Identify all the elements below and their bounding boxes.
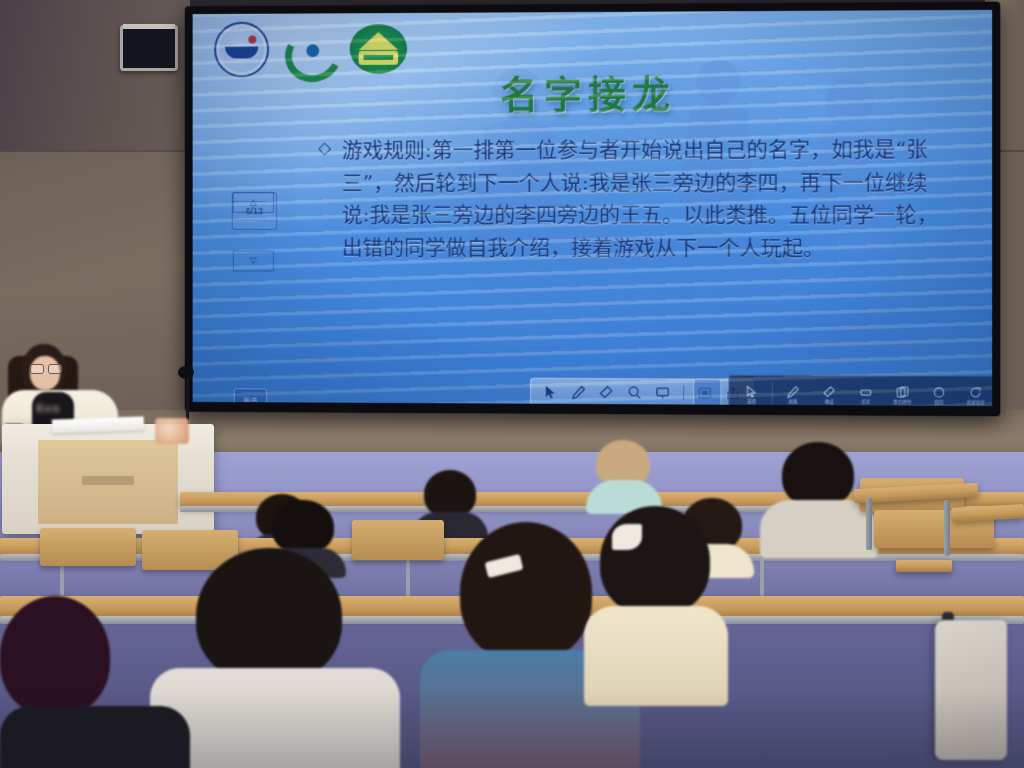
redo-arrow-icon xyxy=(969,386,983,400)
whiteboard-tool-label: 板书 xyxy=(244,396,258,406)
screen-icon[interactable] xyxy=(655,385,670,400)
wall-speaker-icon xyxy=(120,25,178,71)
folded-seat xyxy=(896,560,952,572)
eraser-icon xyxy=(822,385,836,399)
projection-screen: 名字接龙 ◇ 游戏规则:第一排第一位参与者开始说出自己的名字，如我是“张三”，然… xyxy=(193,10,993,406)
restore-tool[interactable]: 清屏恢复 xyxy=(957,386,992,406)
annotation-toolbar-dark[interactable]: 选择 画笔 橡皮 形状 xyxy=(728,375,992,407)
slide-body-text: 游戏规则:第一排第一位参与者开始说出自己的名字，如我是“张三”，然后轮到下一个人… xyxy=(342,133,945,264)
projection-screen-frame: 名字接龙 ◇ 游戏规则:第一排第一位参与者开始说出自己的名字，如我是“张三”，然… xyxy=(185,2,1001,417)
page-erase-label: 整页擦除 xyxy=(893,401,911,406)
presenter-jacket-text: Ken xyxy=(36,402,72,415)
page-up-icon: chevron-up-icon xyxy=(233,193,276,202)
desk-leg xyxy=(866,498,872,550)
magnifier-icon[interactable] xyxy=(627,385,642,400)
toolbar-divider xyxy=(683,385,684,400)
page-down-icon: ▽ xyxy=(233,221,276,229)
hair-clip xyxy=(612,524,642,550)
select-tool-label: 选择 xyxy=(747,400,756,405)
toolbar-grab-handle[interactable] xyxy=(693,378,721,406)
backpack xyxy=(935,620,1007,760)
cursor-arrow-icon xyxy=(745,385,759,399)
lecture-hall-scene: 名字接龙 ◇ 游戏规则:第一排第一位参与者开始说出自己的名字，如我是“张三”，然… xyxy=(0,0,1024,768)
desk-frame-bar xyxy=(760,556,764,596)
pen-icon[interactable] xyxy=(571,384,586,399)
toolbar-divider xyxy=(772,383,773,403)
podium-flowers xyxy=(155,418,189,444)
pen-icon xyxy=(786,385,800,399)
presenter-glasses-icon xyxy=(30,364,60,372)
wall-seam xyxy=(0,150,200,152)
whiteboard-tool-tile[interactable]: 板书 xyxy=(234,388,267,406)
pen-tool-label: 画笔 xyxy=(788,400,797,405)
student-front-right xyxy=(584,506,728,686)
page-indicator: 6/13 xyxy=(233,202,276,221)
page-erase-tool[interactable]: 整页擦除 xyxy=(884,385,921,406)
desk-leg xyxy=(944,500,950,556)
circle-tool[interactable]: 圆形 xyxy=(921,386,958,407)
restore-tool-label: 清屏恢复 xyxy=(967,401,985,406)
microphone-icon xyxy=(178,366,194,379)
student-front-far-left xyxy=(0,596,190,768)
eraser-icon[interactable] xyxy=(599,385,614,400)
eraser-tool[interactable]: 橡皮 xyxy=(811,385,847,406)
pen-tool[interactable]: 画笔 xyxy=(775,385,811,406)
podium-plate xyxy=(82,476,134,485)
desk-frame-bar xyxy=(406,556,410,596)
pages-icon xyxy=(895,385,909,399)
slide-bullet-marker: ◇ xyxy=(318,139,331,159)
select-tool[interactable]: 选择 xyxy=(733,385,769,406)
shape-tool[interactable]: 形状 xyxy=(848,385,885,406)
slide-page-nav[interactable]: chevron-up-icon 6/13 ▽ xyxy=(232,192,277,230)
slide-title: 名字接龙 xyxy=(193,62,993,120)
student-far-1 xyxy=(586,440,662,510)
rectangle-icon xyxy=(859,385,873,399)
cursor-arrow-icon[interactable] xyxy=(543,384,558,399)
circle-icon xyxy=(932,386,946,400)
shape-tool-label: 形状 xyxy=(861,401,870,406)
circle-tool-label: 圆形 xyxy=(934,401,943,406)
eraser-tool-label: 橡皮 xyxy=(825,400,834,405)
seat-back xyxy=(40,528,136,566)
